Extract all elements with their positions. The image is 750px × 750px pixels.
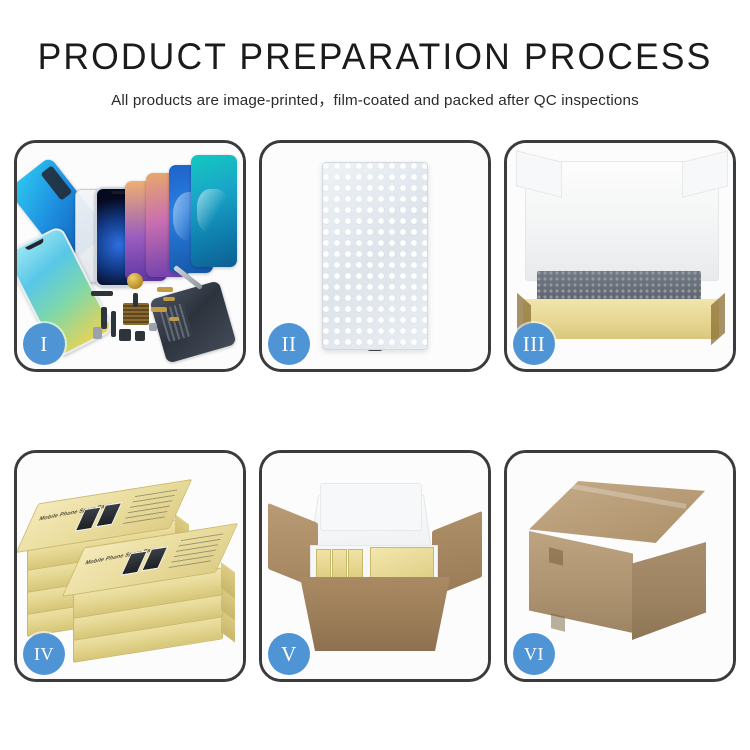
box-label-spec-lines [122,489,178,526]
step-badge-3: III [513,323,555,365]
part-strip [169,317,179,321]
phone-screen-teal [191,155,237,267]
carton-side-face [632,542,706,640]
part-strip [133,293,138,307]
step-panel-4: Mobile Phone Spare Parts Mobile Phone Sp… [14,450,246,682]
part-strip [91,291,113,296]
carton-front-face [529,531,633,633]
carton-tape-lower [551,613,565,631]
part-chip [119,329,131,341]
part-strip [111,311,116,337]
spare-parts-cluster [89,273,207,357]
part-strip [101,307,107,329]
bubble-wrap-bag [322,162,428,350]
step-panel-2: II [259,140,491,372]
part-chip [93,327,102,339]
step-badge-1: I [23,323,65,365]
coin-part-icon [127,273,143,289]
step-badge-6: VI [513,633,555,675]
page-subtitle: All products are image-printed，film-coat… [0,88,750,110]
part-chip [149,323,157,331]
part-chip [135,331,145,341]
box-label-spec-lines [168,533,224,570]
shipping-carton-body [300,577,450,651]
step-badge-2: II [268,323,310,365]
carton-top-face [529,481,705,543]
part-strip [151,307,167,312]
carton-tape-upper [549,547,563,565]
part-strip [163,297,175,301]
step-panel-1: I [14,140,246,372]
step-panel-6: VI [504,450,736,682]
step-panel-3: III [504,140,736,372]
foam-box-lid-inner [320,483,422,531]
process-steps-grid: I II III [14,140,736,682]
page-title: PRODUCT PREPARATION PROCESS [15,38,735,77]
part-strip [157,287,173,292]
step-panel-5: V [259,450,491,682]
box-lid-white [525,161,719,281]
page-header: PRODUCT PREPARATION PROCESS All products… [0,0,750,110]
step-badge-4: IV [23,633,65,675]
step-badge-5: V [268,633,310,675]
